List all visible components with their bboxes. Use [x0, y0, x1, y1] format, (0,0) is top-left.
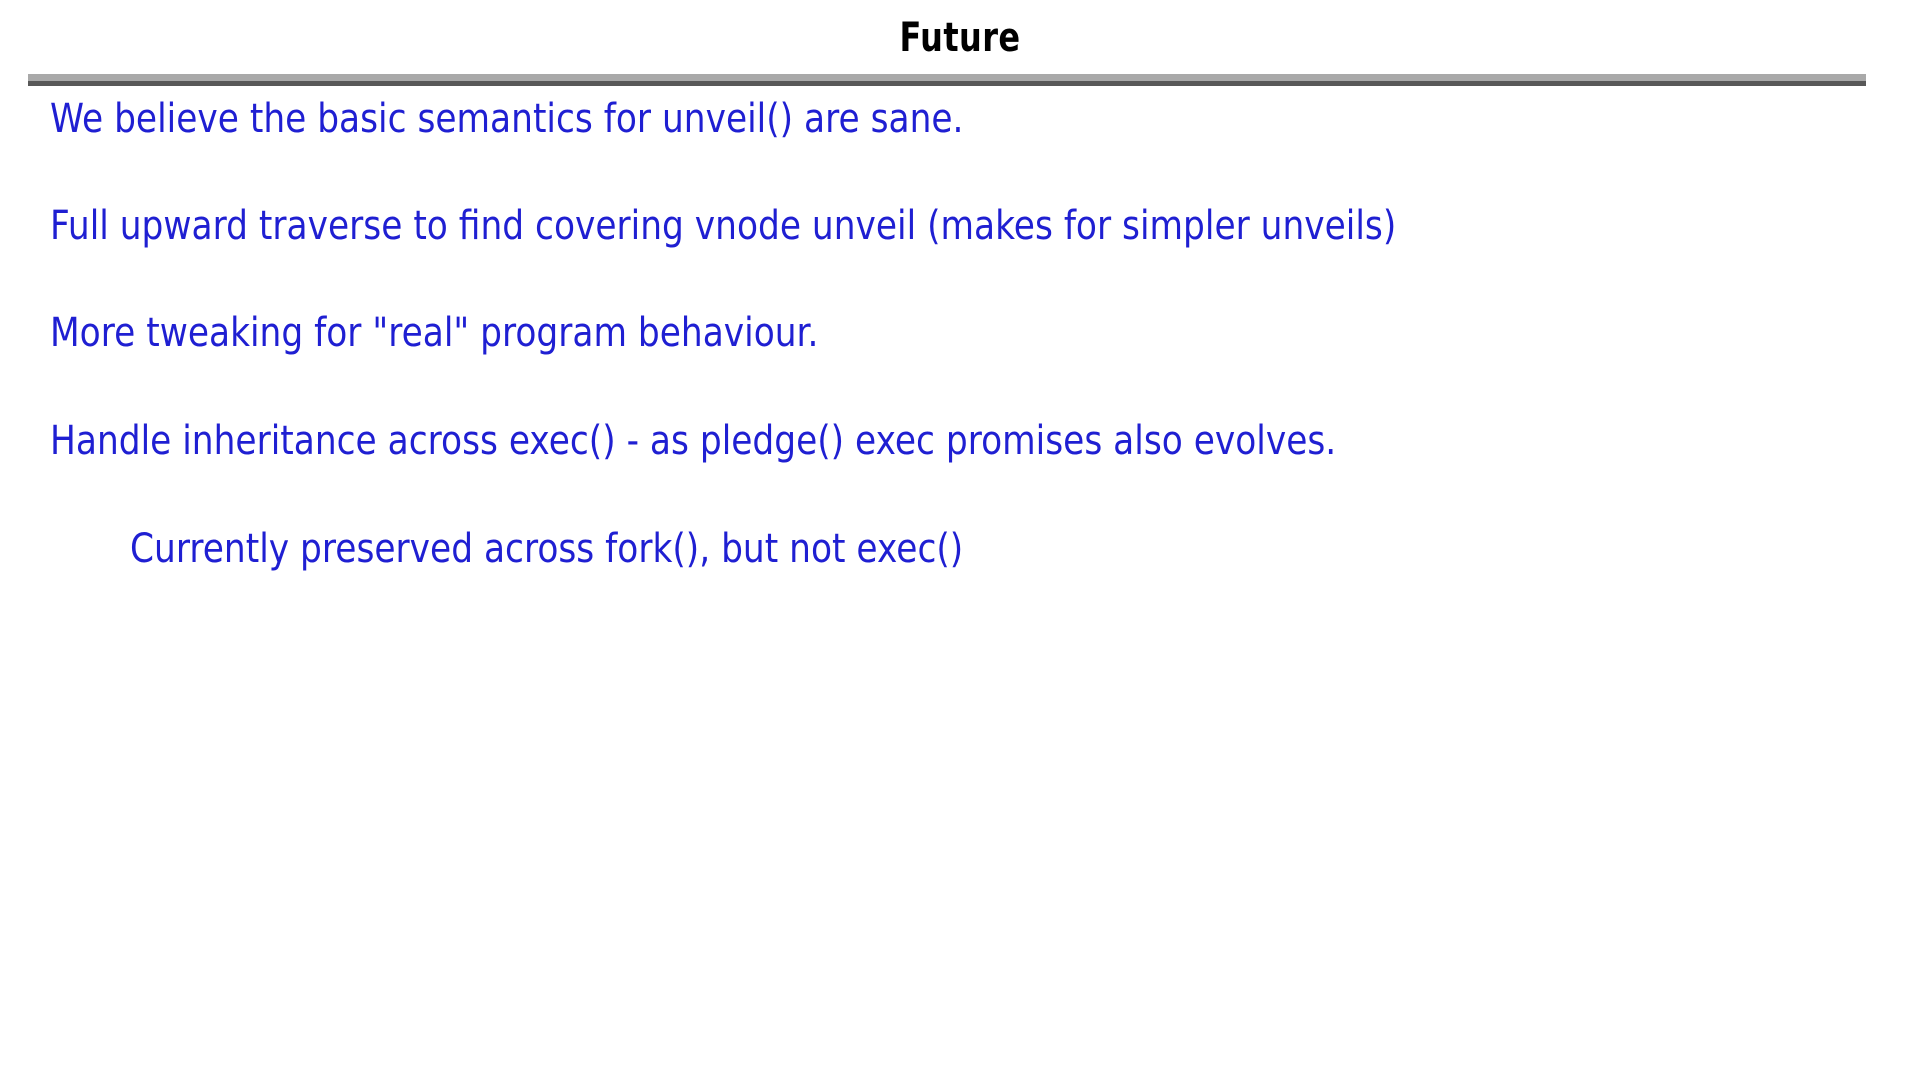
page-title: Future — [192, 14, 1728, 62]
presentation-slide: Future We believe the basic semantics fo… — [0, 0, 1920, 1080]
title-divider-rule — [28, 74, 1866, 86]
body-line: Handle inheritance across exec() - as pl… — [50, 418, 1336, 464]
divider-dark-band — [28, 81, 1866, 86]
body-line-indented: Currently preserved across fork(), but n… — [130, 526, 963, 572]
body-line: Full upward traverse to find covering vn… — [50, 203, 1396, 249]
body-line: More tweaking for "real" program behavio… — [50, 310, 818, 356]
divider-light-band — [28, 74, 1866, 81]
body-line: We believe the basic semantics for unvei… — [50, 96, 963, 142]
slide-body: We believe the basic semantics for unvei… — [0, 96, 1920, 616]
